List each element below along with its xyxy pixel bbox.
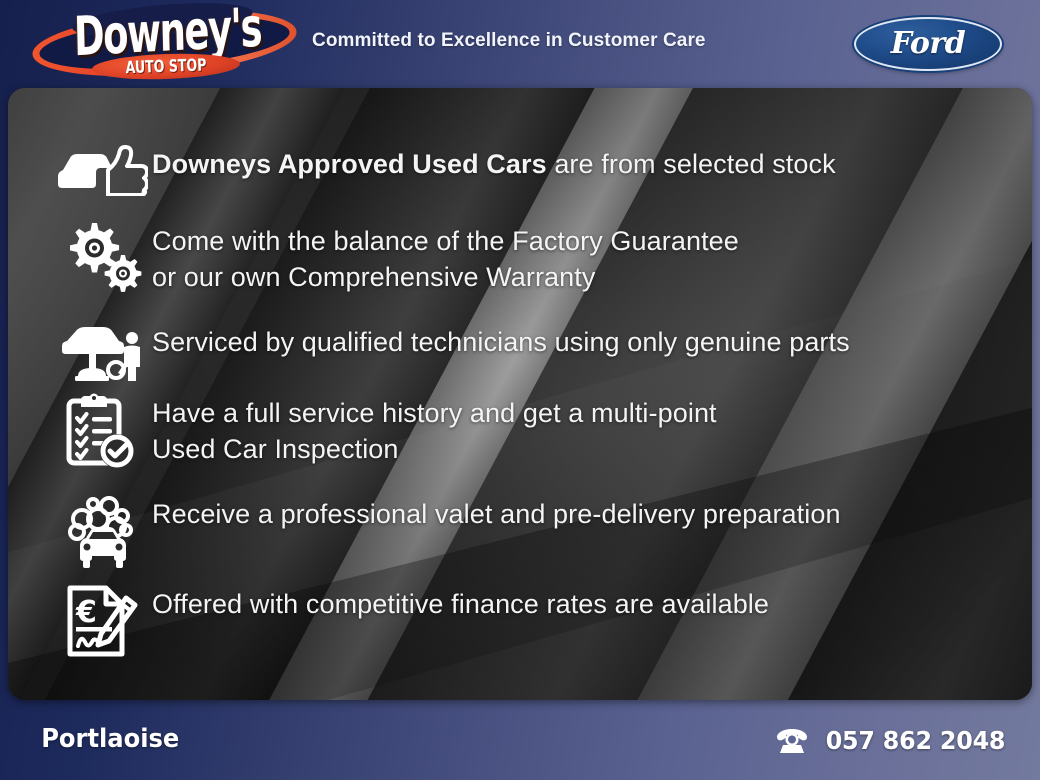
benefit-line-2: or our own Comprehensive Warranty bbox=[152, 259, 739, 295]
clipboard-checklist-icon bbox=[52, 393, 152, 471]
benefit-text: Receive a professional valet and pre-del… bbox=[152, 494, 841, 532]
car-on-lift-technician-icon bbox=[52, 322, 152, 384]
benefit-line-1: Come with the balance of the Factory Gua… bbox=[152, 223, 739, 259]
benefit-text: Have a full service history and get a mu… bbox=[152, 393, 717, 467]
page-header: Downey's AUTO STOP Committed to Excellen… bbox=[0, 0, 1040, 88]
approved-used-cars-panel: Downeys Approved Used Cars are from sele… bbox=[8, 88, 1032, 700]
benefit-line-2: Used Car Inspection bbox=[152, 431, 717, 467]
contact-phone[interactable]: 057 862 2048 bbox=[776, 726, 1010, 755]
benefit-item-valet-preparation: Receive a professional valet and pre-del… bbox=[52, 494, 841, 570]
euro-document-pen-icon: € bbox=[52, 584, 152, 660]
benefit-text: Offered with competitive finance rates a… bbox=[152, 584, 769, 622]
benefit-rest-text: are from selected stock bbox=[547, 149, 836, 179]
dealership-location: Portlaoise bbox=[41, 724, 179, 754]
benefit-text: Come with the balance of the Factory Gua… bbox=[152, 221, 739, 295]
benefit-item-finance-rates: € Offered with competitive finance rates… bbox=[52, 584, 769, 660]
ford-logo-label: Ford bbox=[891, 26, 965, 61]
page-footer: Portlaoise 057 862 2048 bbox=[0, 700, 1040, 780]
benefits-list: Downeys Approved Used Cars are from sele… bbox=[8, 88, 1032, 700]
telephone-icon bbox=[776, 728, 808, 754]
benefit-item-factory-guarantee: Come with the balance of the Factory Gua… bbox=[52, 221, 739, 295]
benefit-line-1: Have a full service history and get a mu… bbox=[152, 395, 717, 431]
ford-logo[interactable]: Ford bbox=[854, 17, 1002, 71]
downeys-logo[interactable]: Downey's AUTO STOP bbox=[32, 4, 297, 84]
benefit-lead-text: Downeys Approved Used Cars bbox=[152, 149, 547, 179]
benefit-item-approved-stock: Downeys Approved Used Cars are from sele… bbox=[52, 144, 836, 196]
header-tagline: Committed to Excellence in Customer Care bbox=[312, 30, 706, 52]
benefit-text: Downeys Approved Used Cars are from sele… bbox=[152, 144, 836, 182]
car-wash-bubbles-icon bbox=[52, 494, 152, 570]
gears-icon bbox=[52, 221, 152, 293]
phone-number: 057 862 2048 bbox=[826, 726, 1006, 755]
logo-auto-stop-label: AUTO STOP bbox=[125, 55, 207, 77]
svg-text:€: € bbox=[75, 595, 97, 630]
benefit-text: Serviced by qualified technicians using … bbox=[152, 322, 850, 360]
benefit-item-serviced-technicians: Serviced by qualified technicians using … bbox=[52, 322, 850, 384]
car-thumbs-up-icon bbox=[52, 144, 152, 196]
benefit-item-service-history: Have a full service history and get a mu… bbox=[52, 393, 717, 471]
